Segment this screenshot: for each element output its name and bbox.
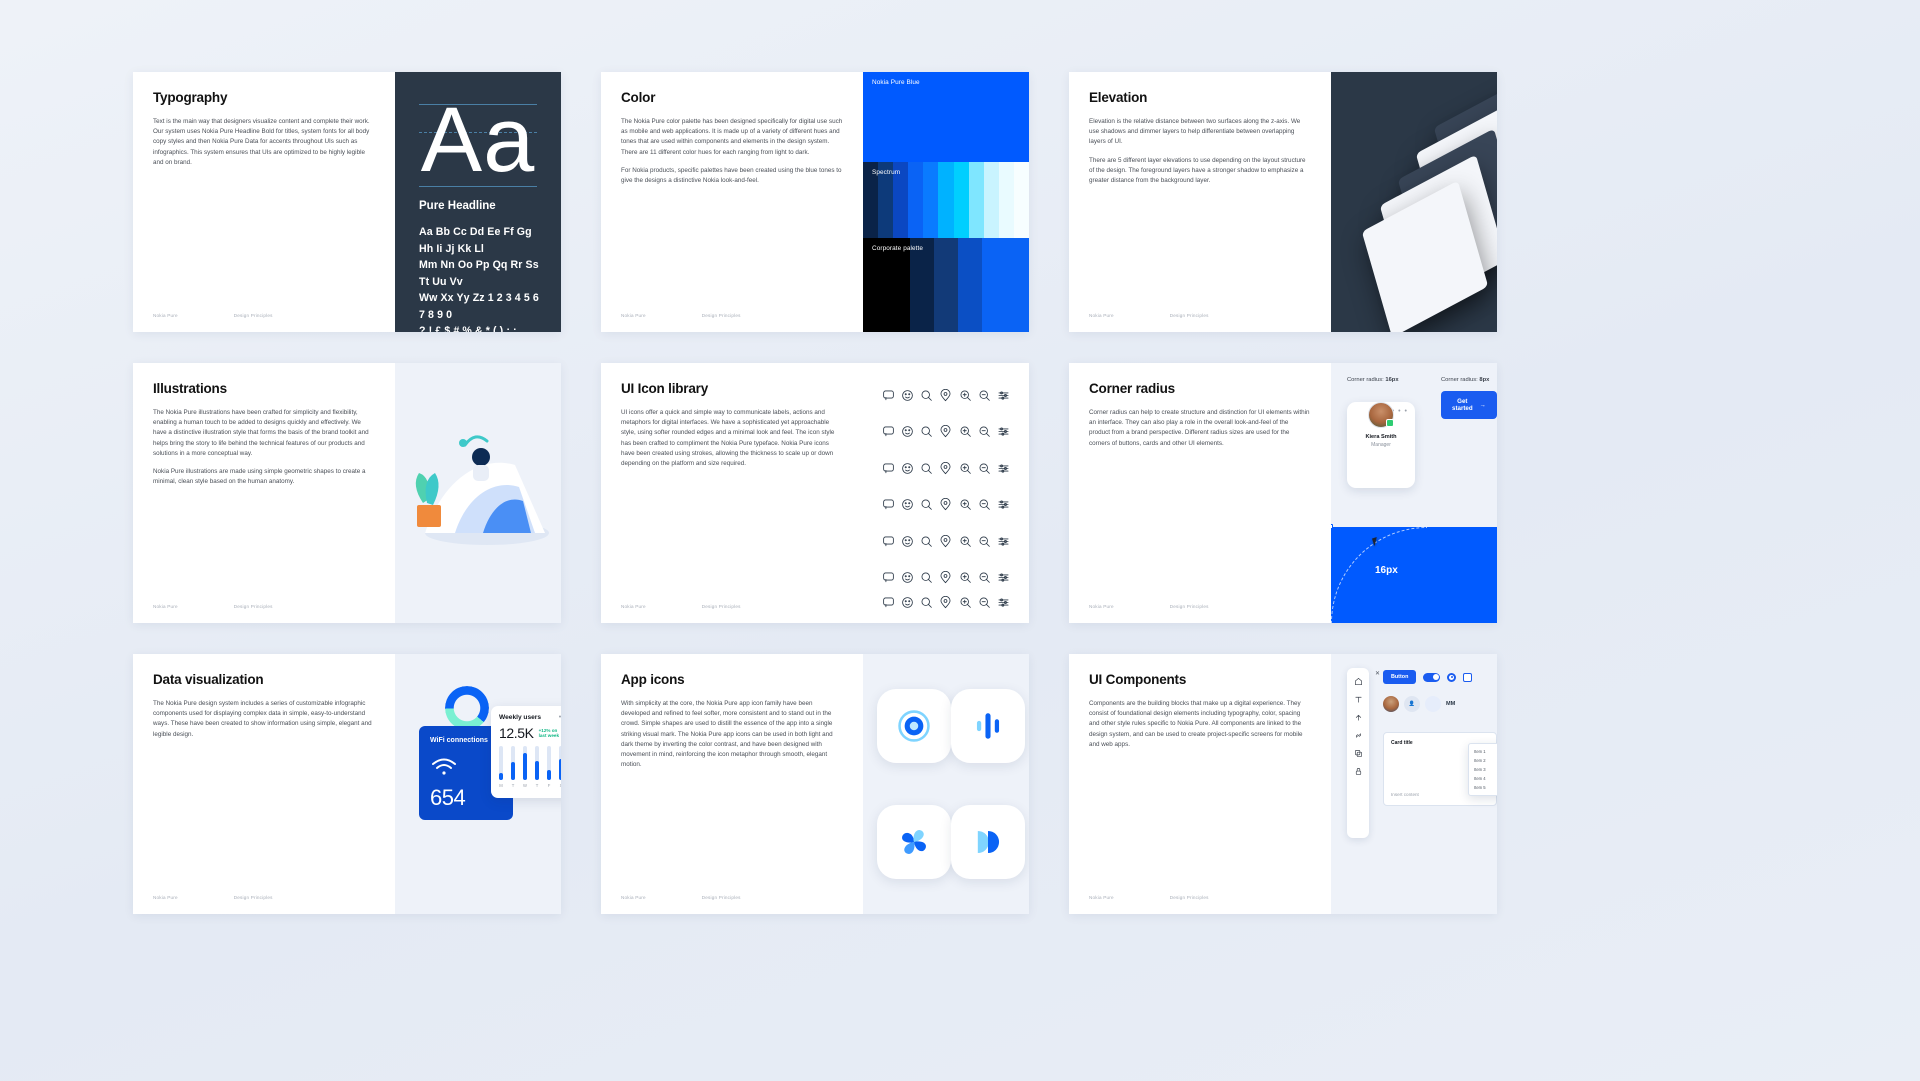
axis-tick-3: T <box>535 783 539 788</box>
bar-S-5 <box>559 746 561 780</box>
profile-card[interactable]: • • • Kiera Smith Manager <box>1347 402 1415 488</box>
play-chevrons-icon <box>971 825 1005 859</box>
ring-target-icon <box>897 709 931 743</box>
card-app-icons[interactable]: App icons With simplicity at the core, t… <box>601 654 1029 914</box>
bar-fill <box>559 759 561 780</box>
card-data-visualization[interactable]: Data visualization The Nokia Pure design… <box>133 654 561 914</box>
phone-icon[interactable] <box>978 498 991 511</box>
spectrum-swatch-4 <box>908 162 923 238</box>
alphabet-line-1: Aa Bb Cc Dd Ee Ff Gg Hh Ii Jj Kk Ll <box>419 224 545 257</box>
sliders-icon[interactable] <box>997 389 1010 402</box>
bell-icon[interactable] <box>997 498 1010 511</box>
mini-card[interactable]: Card title Insert content Item 1Item 2It… <box>1383 732 1497 806</box>
card-body: The Nokia Pure illustrations have been c… <box>153 408 375 495</box>
bookmark-icon[interactable] <box>920 425 933 438</box>
footer-right: Design Principles <box>234 604 273 609</box>
card-corner-radius[interactable]: Corner radius Corner radius can help to … <box>1069 363 1497 623</box>
lock-icon[interactable] <box>1354 767 1363 776</box>
card-body: The Nokia Pure color palette has been de… <box>621 117 843 194</box>
corporate-swatch-2 <box>887 238 911 332</box>
card-typography-text: Typography Text is the main way that des… <box>133 72 395 332</box>
paragraph: The Nokia Pure color palette has been de… <box>621 117 843 158</box>
bar-fill <box>535 761 539 780</box>
speech-icon[interactable] <box>978 596 991 609</box>
card-icon[interactable] <box>959 596 972 609</box>
spectrum-swatch-9 <box>984 162 999 238</box>
card-body: Corner radius can help to create structu… <box>1089 408 1311 457</box>
card-color[interactable]: Color The Nokia Pure color palette has b… <box>601 72 1029 332</box>
paragraph: For Nokia products, specific palettes ha… <box>621 166 843 186</box>
card-typography[interactable]: Typography Text is the main way that des… <box>133 72 561 332</box>
delta-line-1: +12% on <box>539 728 558 733</box>
bar-T-1 <box>511 746 515 780</box>
alphabet-line-2: Mm Nn Oo Pp Qq Rr Ss Tt Uu Vv <box>419 257 545 290</box>
type-guides: Aa <box>419 86 537 198</box>
person-illustration <box>395 363 561 623</box>
footer-left: Nokia Pure <box>621 895 646 900</box>
delta-line-2: last week <box>539 733 559 738</box>
corporate-swatch-1 <box>863 238 887 332</box>
card-body: The Nokia Pure design system includes a … <box>153 699 375 748</box>
card-elevation-text: Elevation Elevation is the relative dist… <box>1069 72 1331 332</box>
axis-tick-2: W <box>523 783 527 788</box>
typography-specimen-panel: Aa Pure Headline Aa Bb Cc Dd Ee Ff Gg Hh… <box>395 72 561 332</box>
copy-icon[interactable] <box>1354 749 1363 758</box>
card-footer: Nokia Pure Design Principles <box>621 604 847 609</box>
card-footer: Nokia Pure Design Principles <box>621 895 847 900</box>
donut-chart <box>445 686 489 730</box>
axis-tick-0: M <box>499 783 503 788</box>
clipboard-icon[interactable] <box>997 535 1010 548</box>
weekly-users-header: Weekly users • • • <box>499 714 561 721</box>
card-body: Text is the main way that designers visu… <box>153 117 375 176</box>
card-ui-components[interactable]: UI Components Components are the buildin… <box>1069 654 1497 914</box>
dataviz-panel: WiFi connections 654 Weekly users • • • … <box>395 654 561 914</box>
spectrum-swatch-11 <box>1014 162 1029 238</box>
delete-icon[interactable] <box>901 498 914 511</box>
page-title: Color <box>621 90 843 105</box>
radius-value-label: 16px <box>1375 565 1398 576</box>
swatch-label-primary: Nokia Pure Blue <box>872 79 920 86</box>
avatar-row: 👤 MM <box>1383 696 1455 712</box>
attachment-icon[interactable] <box>901 596 914 609</box>
spectrum-swatch-8 <box>969 162 984 238</box>
get-started-button[interactable]: Get started → <box>1441 391 1497 419</box>
footer-right: Design Principles <box>702 604 741 609</box>
menu-item-1[interactable]: Item 1 <box>1469 747 1497 756</box>
upload-icon[interactable] <box>1354 713 1363 722</box>
checkbox[interactable] <box>1463 673 1472 682</box>
alphabet-line-4: ? ! £ $ # % & * ( ) ; : <box>419 323 545 332</box>
sound-wave-icon <box>971 709 1005 743</box>
label-prefix: Corner radius: <box>1347 377 1385 383</box>
pinwheel-icon <box>897 825 931 859</box>
elevation-layers-panel <box>1331 72 1497 332</box>
card-data-visualization-text: Data visualization The Nokia Pure design… <box>133 654 395 914</box>
footer-left: Nokia Pure <box>153 895 178 900</box>
corporate-swatch-6 <box>982 238 1006 332</box>
design-principles-board: Typography Text is the main way that des… <box>0 0 1920 1081</box>
zoom-in-icon[interactable] <box>959 389 972 402</box>
avatar <box>1368 402 1394 428</box>
paragraph: Nokia Pure illustrations are made using … <box>153 467 375 487</box>
swatch-label-corporate: Corporate palette <box>872 245 923 252</box>
avatar-person-icon: 👤 <box>1404 696 1420 712</box>
card-body: Components are the building blocks that … <box>1089 699 1311 758</box>
card-footer: Nokia Pure Design Principles <box>153 313 379 318</box>
overflow-menu-icon[interactable]: • • • <box>559 714 561 721</box>
alphabet-block: Aa Bb Cc Dd Ee Ff Gg Hh Ii Jj Kk Ll Mm N… <box>419 224 545 332</box>
card-footer: Nokia Pure Design Principles <box>1089 313 1315 318</box>
ui-components-panel: Button 👤 MM Card title Insert content It… <box>1331 654 1497 914</box>
bar-W-2 <box>523 746 527 780</box>
corporate-swatch-5 <box>958 238 982 332</box>
card-body: With simplicity at the core, the Nokia P… <box>621 699 843 778</box>
card-footer: Nokia Pure Design Principles <box>1089 604 1315 609</box>
pin-icon[interactable] <box>939 389 952 402</box>
paragraph: Corner radius can help to create structu… <box>1089 408 1311 449</box>
page-title: Illustrations <box>153 381 375 396</box>
footer-left: Nokia Pure <box>1089 604 1114 609</box>
chat-icon[interactable] <box>882 389 895 402</box>
search-icon[interactable] <box>920 389 933 402</box>
menu-item-4[interactable]: Item 4 <box>1469 774 1497 783</box>
alphabet-line-3: Ww Xx Yy Zz 1 2 3 4 5 6 7 8 9 0 <box>419 290 545 323</box>
footer-left: Nokia Pure <box>1089 895 1114 900</box>
weekly-users-widget: Weekly users • • • 12.5K +12% on last we… <box>491 706 561 798</box>
smiley-icon[interactable] <box>901 389 914 402</box>
avatar-placeholder <box>1425 696 1441 712</box>
corporate-swatch-3 <box>910 238 934 332</box>
bar-T-3 <box>535 746 539 780</box>
footer-left: Nokia Pure <box>153 313 178 318</box>
shuffle-icon[interactable] <box>978 425 991 438</box>
weekly-users-stat: 12.5K +12% on last week <box>499 725 561 741</box>
arrow-right-icon: → <box>1480 402 1486 409</box>
card-footer: Nokia Pure Design Principles <box>1089 895 1315 900</box>
folder-icon[interactable] <box>920 535 933 548</box>
chart-icon[interactable] <box>901 571 914 584</box>
axis-tick-5: S <box>559 783 561 788</box>
app-tile-pinwheel[interactable] <box>877 805 951 879</box>
text-icon[interactable] <box>1354 695 1363 704</box>
card-illustrations[interactable]: Illustrations The Nokia Pure illustratio… <box>133 363 561 623</box>
link-icon[interactable] <box>882 462 895 475</box>
card-footer: Nokia Pure Design Principles <box>621 313 847 318</box>
card-color-text: Color The Nokia Pure color palette has b… <box>601 72 863 332</box>
icon-grid-panel <box>863 363 1029 623</box>
home-icon[interactable] <box>939 498 952 511</box>
bar-M-0 <box>499 746 503 780</box>
footer-right: Design Principles <box>1170 604 1209 609</box>
page-title: Data visualization <box>153 672 375 687</box>
spectrum-swatch-5 <box>923 162 938 238</box>
label-value: 16px <box>1385 377 1398 383</box>
footer-right: Design Principles <box>1170 313 1209 318</box>
upload-icon[interactable] <box>978 535 991 548</box>
footer-right: Design Principles <box>234 313 273 318</box>
app-tile-play-chevrons[interactable] <box>951 805 1025 879</box>
swatch-primary-blue: Nokia Pure Blue <box>863 72 1029 162</box>
typeface-name: Pure Headline <box>419 200 496 212</box>
menu-item-2[interactable]: Item 2 <box>1469 756 1497 765</box>
trophy-icon[interactable] <box>882 571 895 584</box>
target-icon[interactable] <box>997 425 1010 438</box>
close-icon[interactable]: ✕ <box>1375 670 1380 677</box>
resize-handle[interactable] <box>1331 524 1333 529</box>
tool-rail[interactable] <box>1347 668 1369 838</box>
paragraph: The Nokia Pure illustrations have been c… <box>153 408 375 459</box>
overflow-menu-icon[interactable]: • • • <box>1392 408 1408 415</box>
avatar-photo <box>1383 696 1399 712</box>
specimen-aa: Aa <box>419 82 537 198</box>
controls-row: Button <box>1383 670 1472 684</box>
radius-measure-demo: 16px <box>1331 527 1497 623</box>
bar-fill <box>499 773 503 780</box>
shield-icon[interactable] <box>959 571 972 584</box>
swatch-label-spectrum: Spectrum <box>872 169 900 176</box>
zoom-out-icon[interactable] <box>978 389 991 402</box>
weekly-users-title: Weekly users <box>499 714 541 721</box>
corporate-swatch-4 <box>934 238 958 332</box>
page-title: App icons <box>621 672 843 687</box>
footer-left: Nokia Pure <box>153 604 178 609</box>
spectrum-swatch-10 <box>999 162 1014 238</box>
bar-F-4 <box>547 746 551 780</box>
page-title: Typography <box>153 90 375 105</box>
wifi-icon <box>431 758 457 776</box>
trash-icon[interactable] <box>882 498 895 511</box>
paragraph: The Nokia Pure design system includes a … <box>153 699 375 740</box>
label-value: 8px <box>1479 377 1489 383</box>
page-title: Elevation <box>1089 90 1311 105</box>
footer-right: Design Principles <box>234 895 273 900</box>
icon-grid[interactable] <box>879 377 1013 609</box>
weekly-users-value: 12.5K <box>499 725 534 741</box>
camera-icon[interactable] <box>997 571 1010 584</box>
car-icon[interactable] <box>939 596 952 609</box>
color-swatch-panel: Nokia Pure Blue Spectrum Corporate palet… <box>863 72 1029 332</box>
page-title: UI Icon library <box>621 381 843 396</box>
card-icon-library-text: UI Icon library UI icons offer a quick a… <box>601 363 863 623</box>
card-body: UI icons offer a quick and simple way to… <box>621 408 843 477</box>
card-corner-radius-text: Corner radius Corner radius can help to … <box>1069 363 1331 623</box>
paragraph: There are 5 different layer elevations t… <box>1089 156 1311 187</box>
app-tile-sound-wave[interactable] <box>951 689 1025 763</box>
image-icon[interactable] <box>901 535 914 548</box>
flag-icon[interactable] <box>882 425 895 438</box>
mini-card-subtext: Insert content <box>1391 792 1419 797</box>
key-icon[interactable] <box>920 571 933 584</box>
corner-radius-button-label: Corner radius: 8px <box>1441 377 1497 383</box>
plant <box>416 473 441 527</box>
app-tile-ring-target[interactable] <box>877 689 951 763</box>
page-title: UI Components <box>1089 672 1311 687</box>
book-icon[interactable] <box>939 535 952 548</box>
edit-icon[interactable] <box>978 462 991 475</box>
heart-icon[interactable] <box>901 425 914 438</box>
illustration-panel <box>395 363 561 623</box>
corner-radius-button-example: Corner radius: 8px Get started → <box>1441 377 1497 488</box>
swatch-spectrum-row: Spectrum <box>863 162 1029 238</box>
label-prefix: Corner radius: <box>1441 377 1479 383</box>
wifi-value: 654 <box>430 785 465 811</box>
footer-right: Design Principles <box>702 895 741 900</box>
footer-right: Design Principles <box>1170 895 1209 900</box>
menu-item-3[interactable]: Item 3 <box>1469 765 1497 774</box>
axis-tick-1: T <box>511 783 515 788</box>
elevation-stage <box>1331 72 1497 332</box>
lock-icon[interactable] <box>939 462 952 475</box>
card-body: Elevation is the relative distance betwe… <box>1089 117 1311 194</box>
footer-right: Design Principles <box>702 313 741 318</box>
get-started-label: Get started <box>1452 398 1473 412</box>
home-icon[interactable] <box>1354 677 1363 686</box>
dropdown-menu[interactable]: Item 1Item 2Item 3Item 4Item 5 <box>1468 743 1497 796</box>
mic-icon[interactable] <box>978 571 991 584</box>
corner-radius-card-example: Corner radius: 16px • • • Kiera Smith Ma… <box>1347 377 1415 488</box>
card-elevation[interactable]: Elevation Elevation is the relative dist… <box>1069 72 1497 332</box>
corner-radius-demo-panel: Corner radius: 16px • • • Kiera Smith Ma… <box>1331 363 1497 623</box>
music-icon[interactable] <box>882 535 895 548</box>
radio-button[interactable] <box>1447 673 1456 682</box>
corner-radius-card-label: Corner radius: 16px <box>1347 377 1415 383</box>
spectrum-swatch-7 <box>954 162 969 238</box>
card-footer: Nokia Pure Design Principles <box>153 604 379 609</box>
bar-fill <box>511 762 515 780</box>
bank-icon[interactable] <box>997 596 1010 609</box>
video-icon[interactable] <box>882 596 895 609</box>
swatch-corporate-row: Corporate palette <box>863 238 1029 332</box>
download-icon[interactable] <box>959 535 972 548</box>
bar-fill <box>523 753 527 780</box>
menu-item-5[interactable]: Item 5 <box>1469 783 1497 792</box>
weekly-users-bars <box>499 746 561 780</box>
paragraph: Text is the main way that designers visu… <box>153 117 375 168</box>
link-icon[interactable] <box>1354 731 1363 740</box>
corporate-swatch-7 <box>1005 238 1029 332</box>
paragraph: UI icons offer a quick and simple way to… <box>621 408 843 469</box>
paragraph: Elevation is the relative distance betwe… <box>1089 117 1311 148</box>
paragraph: With simplicity at the core, the Nokia P… <box>621 699 843 770</box>
unlink-icon[interactable] <box>901 462 914 475</box>
spectrum-swatch-6 <box>938 162 953 238</box>
card-icon-library[interactable]: UI Icon library UI icons offer a quick a… <box>601 363 1029 623</box>
cart-icon[interactable] <box>939 571 952 584</box>
weekly-users-delta: +12% on last week <box>539 728 559 741</box>
calendar-icon[interactable] <box>959 462 972 475</box>
bar-fill <box>547 770 551 780</box>
avatar-initials: MM <box>1446 701 1455 707</box>
card-grid: Typography Text is the main way that des… <box>133 72 1787 914</box>
bike-icon[interactable] <box>920 596 933 609</box>
card-footer: Nokia Pure Design Principles <box>153 895 379 900</box>
button-sample[interactable]: Button <box>1383 670 1416 684</box>
footer-left: Nokia Pure <box>621 604 646 609</box>
print-icon[interactable] <box>997 462 1010 475</box>
layers-icon[interactable] <box>920 498 933 511</box>
toggle-switch[interactable] <box>1423 673 1440 682</box>
card-app-icons-text: App icons With simplicity at the core, t… <box>601 654 863 914</box>
footer-left: Nokia Pure <box>621 313 646 318</box>
crop-icon[interactable] <box>939 425 952 438</box>
page-title: Corner radius <box>1089 381 1311 396</box>
card-ui-components-text: UI Components Components are the buildin… <box>1069 654 1331 914</box>
card-illustrations-text: Illustrations The Nokia Pure illustratio… <box>133 363 395 623</box>
scissors-icon[interactable] <box>959 425 972 438</box>
tag-icon[interactable] <box>920 462 933 475</box>
weekly-users-axis: MTWTFSS <box>499 783 561 788</box>
profile-name: Kiera Smith <box>1347 434 1415 440</box>
percent-icon[interactable] <box>959 498 972 511</box>
footer-left: Nokia Pure <box>1089 313 1114 318</box>
profile-role: Manager <box>1347 442 1415 448</box>
axis-tick-4: F <box>547 783 551 788</box>
corner-radius-examples: Corner radius: 16px • • • Kiera Smith Ma… <box>1347 377 1481 488</box>
paragraph: Components are the building blocks that … <box>1089 699 1311 750</box>
app-icon-panel <box>863 654 1029 914</box>
